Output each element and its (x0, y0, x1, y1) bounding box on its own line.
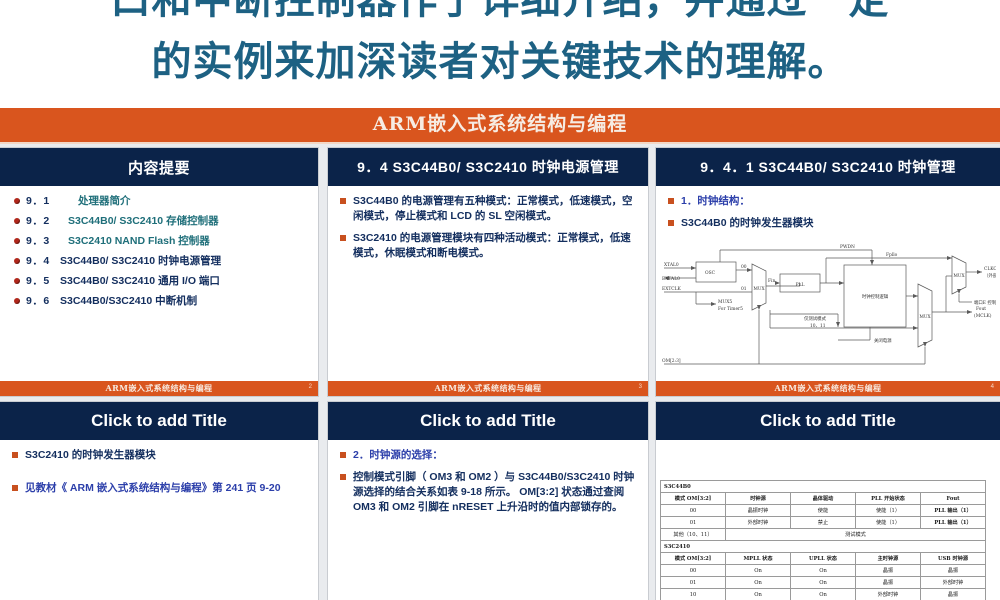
table-cell: On (791, 565, 856, 577)
diagram-label-sel01: 01 (741, 287, 747, 292)
diagram-label-extal0: EXTAL0 (662, 277, 680, 282)
table-cell: On (726, 565, 791, 577)
bullet-dot-icon (14, 198, 20, 204)
table-cell: 使能（1） (856, 505, 921, 517)
slide-viewer: 口和中断控制器作了详细介绍，并通过一定 的实例来加深读者对关键技术的理解。 AR… (0, 0, 1000, 600)
slide-footer-text: ARM嵌入式系统结构与编程 (435, 383, 542, 394)
bullet-dot-icon (14, 218, 20, 224)
bullet-square-icon (668, 220, 674, 226)
table-header-cell: 模式 OM[3:2] (661, 493, 726, 505)
table-row: 01 On On 晶振 外部时钟 (661, 577, 986, 589)
table-row: 其他（10、11） 测试模式 (661, 529, 986, 541)
slide-footer: ARM嵌入式系统结构与编程 3 (328, 381, 648, 396)
slide-body: 2．时钟源的选择： 控制模式引脚（ OM3 和 OM2 ）与 S3C44B0/S… (328, 440, 648, 515)
table-row: 模式 OM[3:2] MPLL 状态 UPLL 状态 主时钟源 USB 时钟源 (661, 553, 986, 565)
outline-label: S3C2410 NAND Flash 控制器 (60, 234, 210, 248)
table-caption: S3C2410 (661, 541, 986, 553)
table-cell: 01 (661, 577, 726, 589)
outline-number: 9．6 (26, 294, 60, 308)
diagram-label-pwdn: PWDN (840, 245, 855, 250)
diagram-label-fin: Fin (768, 279, 775, 284)
table-header-cell: 晶体驱动 (791, 493, 856, 505)
bullet-square-icon (12, 485, 18, 491)
list-item[interactable]: 9．2 S3C44B0/ S3C2410 存储控制器 (10, 214, 308, 228)
top-slide-line-2: 的实例来加深读者对关键技术的理解。 (0, 36, 1000, 88)
table-row: 模式 OM[3:2] 时钟源 晶体驱动 PLL 开始状态 Fout (661, 493, 986, 505)
bullet-text: S3C2410 的时钟发生器模块 (25, 448, 156, 463)
slide-page-number: 4 (991, 384, 994, 390)
bullet-square-icon (340, 474, 346, 480)
table-cell: 晶振 (921, 589, 986, 600)
table-row: S3C2410 (661, 541, 986, 553)
bullet-dot-icon (14, 298, 20, 304)
bullet-text: S3C44B0 的电源管理有五种模式：正常模式，低速模式，空闲模式，停止模式和 … (353, 194, 638, 224)
table-cell: On (791, 589, 856, 600)
slide-title: 9．4．1 S3C44B0/ S3C2410 时钟管理 (656, 148, 1000, 186)
slide-thumbnail-outline[interactable]: 内容提要 9．1 处理器简介 9．2 S3C44B0/ S3C2410 存储控制… (0, 148, 318, 396)
diagram-label-extclk: EXTCLK (662, 287, 682, 292)
diagram-label-power-off: 关闭电源 (874, 337, 892, 344)
diagram-label-mux1: MUX (753, 287, 765, 292)
table-header-cell: MPLL 状态 (726, 553, 791, 565)
table-header-cell: PLL 开始状态 (856, 493, 921, 505)
slide-thumbnail-power-management[interactable]: 9．4 S3C44B0/ S3C2410 时钟电源管理 S3C44B0 的电源管… (328, 148, 648, 396)
diagram-label-mux5: MUX5 (718, 300, 732, 305)
slide-title[interactable]: Click to add Title (0, 402, 318, 440)
table-header-cell: USB 时钟源 (921, 553, 986, 565)
slide-footer-text: ARM嵌入式系统结构与编程 (106, 383, 213, 394)
outline-label: S3C44B0/ S3C2410 通用 I/O 端口 (60, 274, 220, 288)
list-item[interactable]: 9．3 S3C2410 NAND Flash 控制器 (10, 234, 308, 248)
outline-number: 9．4 (26, 254, 60, 268)
bullet-dot-icon (14, 278, 20, 284)
table-cell: 晶振 (921, 565, 986, 577)
table-header-cell: 模式 OM[3:2] (661, 553, 726, 565)
table-cell: 禁止 (791, 517, 856, 529)
table-header-cell: Fout (921, 493, 986, 505)
diagram-label-clkout-sub: （外部） (984, 272, 996, 279)
diagram-label-clock-logic: 时钟控制逻辑 (862, 293, 889, 300)
table-cell: 测试模式 (726, 529, 986, 541)
slide-footer: ARM嵌入式系统结构与编程 2 (0, 381, 318, 396)
outline-number: 9．3 (26, 234, 60, 248)
diagram-label-pll: PLL (796, 283, 805, 288)
table-row: 00 晶振时钟 使能 使能（1） PLL 输出（1） (661, 505, 986, 517)
top-partial-slide[interactable]: 口和中断控制器作了详细介绍，并通过一定 的实例来加深读者对关键技术的理解。 (0, 0, 1000, 108)
table-cell: 晶振时钟 (726, 505, 791, 517)
table-cell: 使能（1） (856, 517, 921, 529)
table-header-cell: 时钟源 (726, 493, 791, 505)
bullet-text: 1．时钟结构： (681, 194, 750, 209)
slide-title[interactable]: Click to add Title (656, 402, 1000, 440)
slide-body: S3C44B0 的电源管理有五种模式：正常模式，低速模式，空闲模式，停止模式和 … (328, 186, 648, 261)
slide-thumbnail-clock-source[interactable]: Click to add Title 2．时钟源的选择： 控制模式引脚（ OM3… (328, 402, 648, 600)
diagram-label-test-mode-sub: 10、11 (810, 324, 826, 329)
list-item[interactable]: S3C2410 的电源管理模块有四种活动模式：正常模式，低速模式，休眠模式和断电… (338, 231, 638, 261)
table-cell: 外部时钟 (856, 589, 921, 600)
diagram-label-fout: Fout (976, 307, 986, 312)
outline-label: S3C44B0/ S3C2410 存储控制器 (60, 214, 219, 228)
outline-number: 9．1 (26, 194, 60, 208)
slide-footer: ARM嵌入式系统结构与编程 4 (656, 381, 1000, 396)
list-item[interactable]: S3C44B0 的电源管理有五种模式：正常模式，低速模式，空闲模式，停止模式和 … (338, 194, 638, 224)
slide-body: S3C2410 的时钟发生器模块 见教材《 ARM 嵌入式系统结构与编程》第 2… (0, 440, 318, 496)
list-item[interactable]: 9．5 S3C44B0/ S3C2410 通用 I/O 端口 (10, 274, 308, 288)
bullet-text: 2．时钟源的选择： (353, 448, 443, 463)
table-cell: 晶振 (856, 565, 921, 577)
outline-label: 处理器简介 (60, 194, 131, 208)
bullet-square-icon (340, 198, 346, 204)
diagram-label-mux3: MUX (953, 274, 965, 279)
bullet-dot-icon (14, 238, 20, 244)
table-row: S3C44B0 (661, 481, 986, 493)
slide-page-number: 2 (309, 384, 312, 390)
table-cell: 外部时钟 (921, 577, 986, 589)
bullet-square-icon (668, 198, 674, 204)
bullet-square-icon (340, 452, 346, 458)
slide-page-number: 3 (639, 384, 642, 390)
table-cell: On (726, 577, 791, 589)
table-header-cell: UPLL 状态 (791, 553, 856, 565)
tables-container: S3C44B0 模式 OM[3:2] 时钟源 晶体驱动 PLL 开始状态 Fou… (660, 480, 990, 600)
table-row: 00 On On 晶振 晶振 (661, 565, 986, 577)
table-caption: S3C44B0 (661, 481, 986, 493)
table-s3c44b0: S3C44B0 模式 OM[3:2] 时钟源 晶体驱动 PLL 开始状态 Fou… (660, 480, 986, 541)
diagram-label-test-mode: 仅测试模式 (804, 315, 827, 322)
table-cell: 晶振 (856, 577, 921, 589)
table-cell: 00 (661, 505, 726, 517)
table-cell: PLL 输出（1） (921, 505, 986, 517)
diagram-label-sel00: 00 (741, 265, 747, 270)
diagram-label-mux2: MUX (919, 315, 931, 320)
slide-footer-text: ARM嵌入式系统结构与编程 (775, 383, 882, 394)
bullet-text: S3C2410 的电源管理模块有四种活动模式：正常模式，低速模式，休眠模式和断电… (353, 231, 638, 261)
bullet-dot-icon (14, 258, 20, 264)
list-item[interactable]: 9．1 处理器简介 (10, 194, 308, 208)
slide-thumbnail-2410-clockgen[interactable]: Click to add Title S3C2410 的时钟发生器模块 见教材《… (0, 402, 318, 600)
outline-number: 9．5 (26, 274, 60, 288)
slide-thumbnail-tables[interactable]: Click to add Title S3C44B0 模式 OM[3:2] 时钟… (656, 402, 1000, 600)
slide-title: 内容提要 (0, 148, 318, 186)
slide-body: 1．时钟结构： S3C44B0 的时钟发生器模块 (656, 186, 1000, 231)
table-cell: 00 (661, 565, 726, 577)
table-cell: 外部时钟 (726, 517, 791, 529)
list-item[interactable]: 见教材《 ARM 嵌入式系统结构与编程》第 241 页 9-20 (10, 481, 308, 496)
list-item[interactable]: 控制模式引脚（ OM3 和 OM2 ）与 S3C44B0/S3C2410 时钟源… (338, 470, 638, 515)
master-banner-title: ARM嵌入式系统结构与编程 (0, 108, 1000, 141)
table-cell: 其他（10、11） (661, 529, 726, 541)
diagram-label-port-ctrl: 端口E 控制 (974, 299, 996, 306)
table-row: 01 外部时钟 禁止 使能（1） PLL 输出（1） (661, 517, 986, 529)
list-item[interactable]: S3C44B0 的时钟发生器模块 (666, 216, 990, 231)
outline-label: S3C44B0/ S3C2410 时钟电源管理 (60, 254, 221, 268)
table-cell: On (791, 577, 856, 589)
list-item[interactable]: 2．时钟源的选择： (338, 448, 638, 463)
bullet-text: 见教材《 ARM 嵌入式系统结构与编程》第 241 页 9-20 (25, 481, 281, 496)
slide-title[interactable]: Click to add Title (328, 402, 648, 440)
master-banner: ARM嵌入式系统结构与编程 (0, 108, 1000, 144)
diagram-label-fpllo: Fpllo (886, 253, 898, 258)
list-item[interactable]: S3C2410 的时钟发生器模块 (10, 448, 308, 463)
slide-thumbnail-clock-management[interactable]: 9．4．1 S3C44B0/ S3C2410 时钟管理 1．时钟结构： S3C4… (656, 148, 1000, 396)
clock-generator-diagram: XTAL0 EXTAL0 EXTCLK OSC 00 01 MUX MUX5 F… (660, 240, 996, 378)
table-header-cell: 主时钟源 (856, 553, 921, 565)
table-cell: 10 (661, 589, 726, 600)
slide-body: 9．1 处理器简介 9．2 S3C44B0/ S3C2410 存储控制器 9．3… (0, 186, 318, 308)
outline-number: 9．2 (26, 214, 60, 228)
outline-label: S3C44B0/S3C2410 中断机制 (60, 294, 197, 308)
top-slide-line-1: 口和中断控制器作了详细介绍，并通过一定 (0, 0, 1000, 26)
bullet-square-icon (340, 235, 346, 241)
table-s3c2410: S3C2410 模式 OM[3:2] MPLL 状态 UPLL 状态 主时钟源 … (660, 540, 986, 600)
table-cell: PLL 输出（1） (921, 517, 986, 529)
diagram-label-om: OM[2:3] (662, 359, 681, 364)
diagram-label-for-timer5: For Timer5 (718, 307, 743, 312)
diagram-label-clkout: CLKOUT (984, 267, 996, 272)
diagram-label-fout-sub: (MCLK) (974, 314, 992, 319)
list-item[interactable]: 1．时钟结构： (666, 194, 990, 209)
table-cell: 使能 (791, 505, 856, 517)
list-item[interactable]: 9．4 S3C44B0/ S3C2410 时钟电源管理 (10, 254, 308, 268)
bullet-text: 控制模式引脚（ OM3 和 OM2 ）与 S3C44B0/S3C2410 时钟源… (353, 470, 638, 515)
slide-grid: 内容提要 9．1 处理器简介 9．2 S3C44B0/ S3C2410 存储控制… (0, 148, 1000, 600)
bullet-text: S3C44B0 的时钟发生器模块 (681, 216, 813, 231)
table-cell: On (726, 589, 791, 600)
table-cell: 01 (661, 517, 726, 529)
bullet-square-icon (12, 452, 18, 458)
diagram-label-xtal0: XTAL0 (664, 263, 679, 268)
list-item[interactable]: 9．6 S3C44B0/S3C2410 中断机制 (10, 294, 308, 308)
diagram-label-osc: OSC (705, 271, 716, 276)
slide-title: 9．4 S3C44B0/ S3C2410 时钟电源管理 (328, 148, 648, 186)
table-row: 10 On On 外部时钟 晶振 (661, 589, 986, 600)
